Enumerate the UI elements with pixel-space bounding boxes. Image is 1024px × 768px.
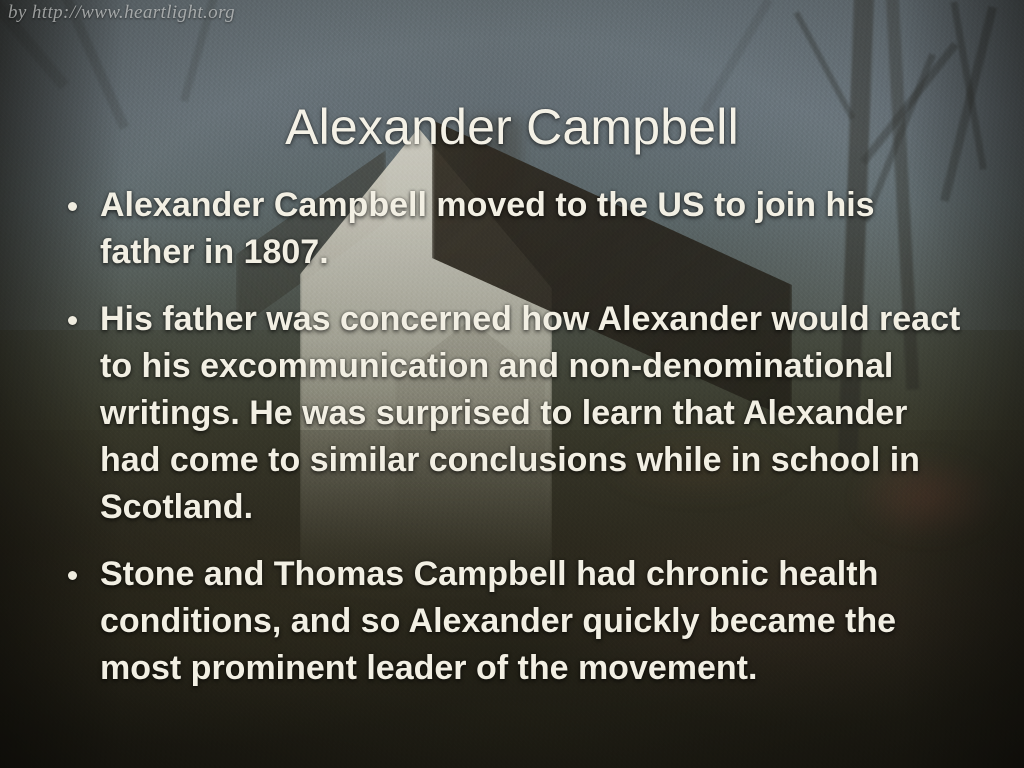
slide-content: by http://www.heartlight.org Alexander C… bbox=[0, 0, 1024, 768]
bullet-list-item: Alexander Campbell moved to the US to jo… bbox=[58, 182, 964, 276]
slide-title: Alexander Campbell bbox=[0, 100, 1024, 155]
slide-bullet-list: Alexander Campbell moved to the US to jo… bbox=[58, 182, 964, 692]
bullet-dot-icon bbox=[68, 202, 77, 211]
bullet-item-text: His father was concerned how Alexander w… bbox=[100, 296, 964, 531]
bullet-item-text: Alexander Campbell moved to the US to jo… bbox=[100, 182, 964, 276]
bullet-list-item: Stone and Thomas Campbell had chronic he… bbox=[58, 551, 964, 692]
bullet-item-text: Stone and Thomas Campbell had chronic he… bbox=[100, 551, 964, 692]
image-credit-watermark: by http://www.heartlight.org bbox=[8, 2, 235, 24]
presentation-slide: by http://www.heartlight.org Alexander C… bbox=[0, 0, 1024, 768]
bullet-dot-icon bbox=[68, 571, 77, 580]
bullet-dot-icon bbox=[68, 316, 77, 325]
bullet-list-item: His father was concerned how Alexander w… bbox=[58, 296, 964, 531]
